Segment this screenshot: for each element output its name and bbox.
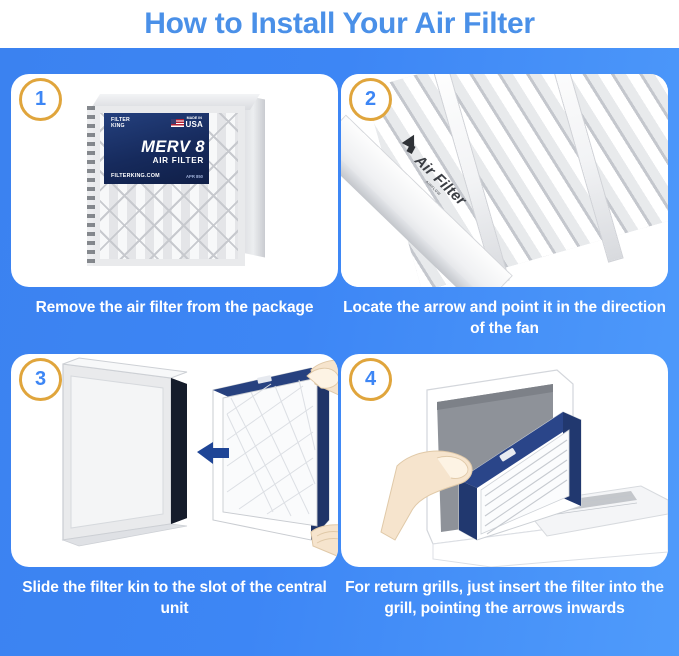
filter-product-label: FILTER KING MADE IN USA MERV 8 <box>104 113 209 184</box>
step-card-4: 4 For return grills, just insert the fil… <box>341 354 668 619</box>
step-card-1: FILTER KING MADE IN USA MERV 8 <box>11 74 338 319</box>
filter-frame-left <box>459 480 477 540</box>
step-1-image-card: FILTER KING MADE IN USA MERV 8 <box>11 74 338 287</box>
step-number-badge-1: 1 <box>19 78 62 121</box>
brand-line-2: KING <box>111 123 125 129</box>
step-card-3: 3 Slide the filter kin to the slot of th… <box>11 354 338 619</box>
central-unit-housing <box>63 358 187 546</box>
filter-panel <box>213 368 329 540</box>
air-filter-product-photo: FILTER KING MADE IN USA MERV 8 <box>87 94 265 266</box>
brand-website: FILTERKING.COM <box>111 173 160 179</box>
filter-left-tabs <box>87 106 95 266</box>
usa-flag-icon <box>171 119 184 127</box>
step-card-2: Air Filter AIRFLOW 2 Locate the arrow an… <box>341 74 668 339</box>
infographic-root: How to Install Your Air Filter <box>0 0 679 656</box>
country-label: USA <box>186 121 204 130</box>
steps-grid: FILTER KING MADE IN USA MERV 8 <box>0 48 679 656</box>
unit-slot-opening <box>171 378 187 524</box>
step-number-badge-4: 4 <box>349 358 392 401</box>
step-2-image-card: Air Filter AIRFLOW 2 <box>341 74 668 287</box>
page-title: How to Install Your Air Filter <box>144 7 534 41</box>
step-caption-3: Slide the filter kin to the slot of the … <box>11 578 338 619</box>
filter-king-logo: FILTER KING <box>111 118 130 130</box>
apr-rating: APR 850 <box>186 174 203 179</box>
made-in-usa-text: MADE IN USA <box>186 117 204 130</box>
step-number-badge-2: 2 <box>349 78 392 121</box>
made-in-usa-group: MADE IN USA <box>171 117 204 130</box>
product-subtitle: AIR FILTER <box>104 156 204 165</box>
step-number-badge-3: 3 <box>19 358 62 401</box>
merv-rating: MERV 8 <box>104 138 205 157</box>
step-4-image-card: 4 <box>341 354 668 567</box>
step-caption-1: Remove the air filter from the package <box>11 298 338 319</box>
step-caption-4: For return grills, just insert the filte… <box>341 578 668 619</box>
hand-bottom <box>311 525 338 556</box>
title-band: How to Install Your Air Filter <box>0 0 679 48</box>
step-3-image-card: 3 <box>11 354 338 567</box>
step-caption-2: Locate the arrow and point it in the dir… <box>341 298 668 339</box>
